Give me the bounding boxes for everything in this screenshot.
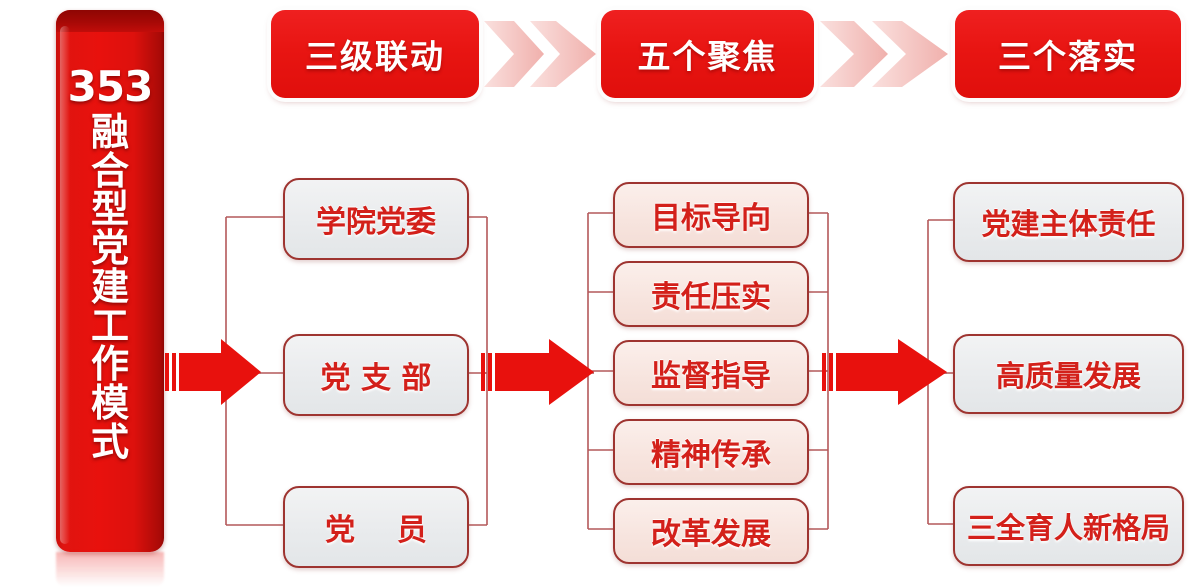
node-col3-0[interactable]: 党建主体责任 — [953, 182, 1184, 262]
node-col1-0[interactable]: 学院党委 — [283, 178, 469, 260]
chevron-arrow-right-icon-2 — [820, 17, 948, 91]
header-pill-2-label: 五个聚焦 — [638, 30, 778, 78]
node-col2-4[interactable]: 改革发展 — [613, 498, 809, 564]
header-pill-1-label: 三级联动 — [305, 30, 445, 78]
banner-char-6: 作 — [56, 345, 164, 384]
node-col1-1[interactable]: 党 支 部 — [283, 334, 469, 416]
banner-char-8: 式 — [56, 423, 164, 462]
node-col2-2[interactable]: 监督指导 — [613, 340, 809, 406]
node-col1-2[interactable]: 党 员 — [283, 486, 469, 568]
banner-char-7: 模 — [56, 384, 164, 423]
node-col1-2-label: 党 员 — [325, 505, 427, 549]
node-col1-1-label: 党 支 部 — [321, 353, 432, 397]
node-col3-1-label: 高质量发展 — [996, 353, 1141, 395]
node-col3-1[interactable]: 高质量发展 — [953, 334, 1184, 414]
banner-reflection — [56, 552, 164, 587]
node-col2-2-label: 监督指导 — [651, 351, 771, 395]
block-arrow-right-icon-3 — [822, 337, 947, 407]
banner-char-0: 融 — [56, 113, 164, 152]
node-col2-3-label: 精神传承 — [651, 430, 771, 474]
node-col3-2-label: 三全育人新格局 — [967, 505, 1170, 547]
node-col2-4-label: 改革发展 — [651, 509, 771, 553]
banner-char-3: 党 — [56, 229, 164, 268]
node-col3-0-label: 党建主体责任 — [981, 201, 1155, 243]
banner-char-4: 建 — [56, 268, 164, 307]
banner-char-2: 型 — [56, 190, 164, 229]
node-col2-0[interactable]: 目标导向 — [613, 182, 809, 248]
header-pill-3[interactable]: 三个落实 — [955, 10, 1181, 98]
header-pill-2[interactable]: 五个聚焦 — [601, 10, 814, 98]
node-col2-3[interactable]: 精神传承 — [613, 419, 809, 485]
diagram-canvas: 353 融 合 型 党 建 工 作 模 式 三级联动 五个聚焦 三个落实 — [0, 0, 1198, 587]
header-pill-3-label: 三个落实 — [998, 30, 1138, 78]
node-col2-0-label: 目标导向 — [651, 193, 771, 237]
banner-char-1: 合 — [56, 152, 164, 191]
title-banner: 353 融 合 型 党 建 工 作 模 式 — [56, 10, 164, 552]
node-col2-1[interactable]: 责任压实 — [613, 261, 809, 327]
node-col1-0-label: 学院党委 — [316, 197, 436, 241]
banner-number: 353 — [56, 66, 164, 109]
header-pill-1[interactable]: 三级联动 — [271, 10, 479, 98]
chevron-arrow-right-icon-1 — [484, 17, 596, 91]
node-col2-1-label: 责任压实 — [651, 272, 771, 316]
banner-top-bevel — [56, 10, 164, 32]
banner-char-5: 工 — [56, 307, 164, 346]
block-arrow-right-icon-1 — [165, 337, 261, 407]
node-col3-2[interactable]: 三全育人新格局 — [953, 486, 1184, 566]
block-arrow-right-icon-2 — [481, 337, 594, 407]
banner-text-block: 353 融 合 型 党 建 工 作 模 式 — [56, 66, 164, 462]
